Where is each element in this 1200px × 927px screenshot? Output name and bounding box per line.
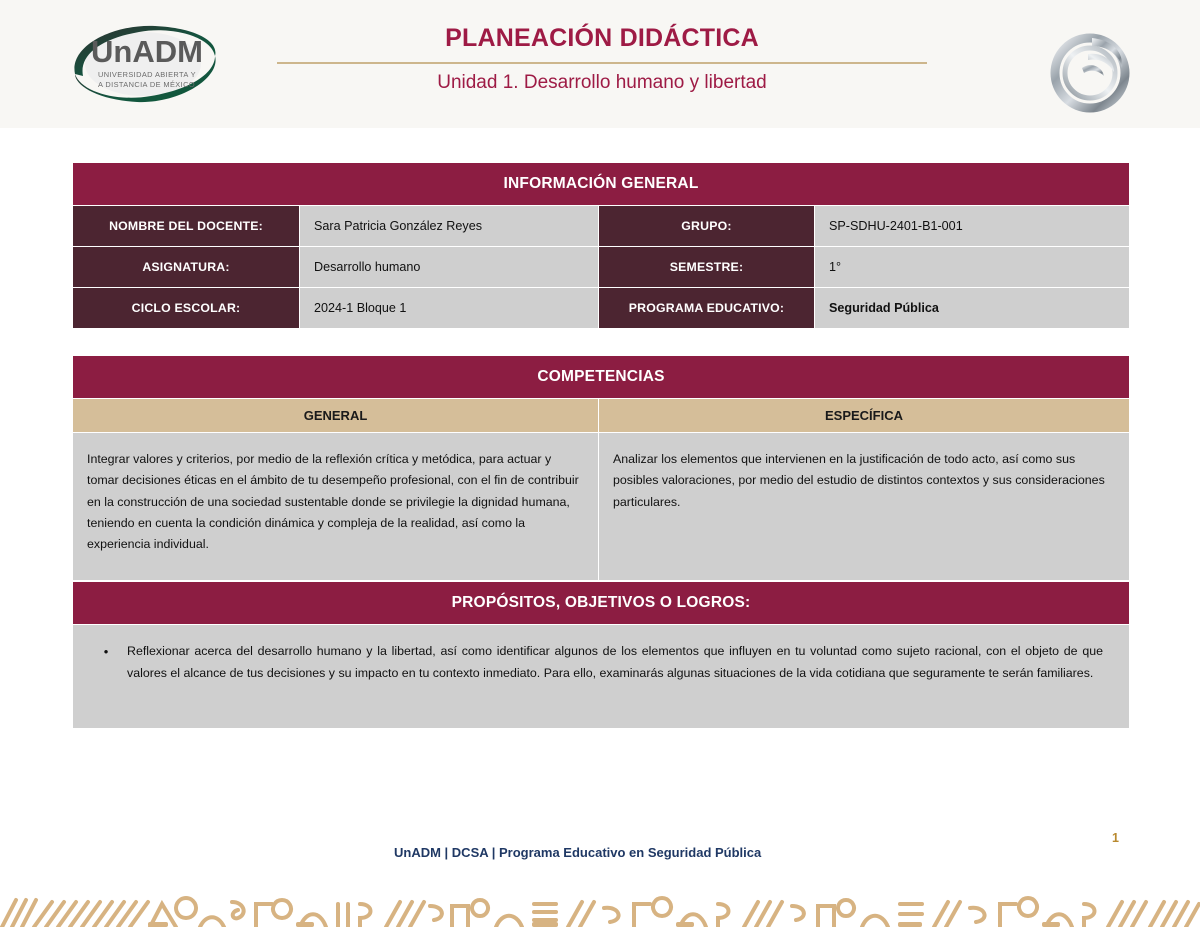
competencias-heading: COMPETENCIAS (73, 356, 1130, 399)
label-semestre: SEMESTRE: (599, 247, 815, 288)
table-row: CICLO ESCOLAR: 2024-1 Bloque 1 PROGRAMA … (73, 288, 1130, 329)
value-nombre-docente: Sara Patricia González Reyes (300, 206, 599, 247)
list-item: • Reflexionar acerca del desarrollo huma… (99, 641, 1103, 684)
table-row: ASIGNATURA: Desarrollo humano SEMESTRE: … (73, 247, 1130, 288)
competencia-general-text: Integrar valores y criterios, por medio … (73, 433, 599, 581)
competencia-especifica-text: Analizar los elementos que intervienen e… (599, 433, 1130, 581)
svg-text:A DISTANCIA DE MÉXICO: A DISTANCIA DE MÉXICO (98, 80, 195, 89)
propositos-table: PROPÓSITOS, OBJETIVOS O LOGROS: • Reflex… (72, 581, 1130, 729)
label-grupo: GRUPO: (599, 206, 815, 247)
page-subtitle: Unidad 1. Desarrollo humano y libertad (262, 70, 942, 97)
value-asignatura: Desarrollo humano (300, 247, 599, 288)
competencias-col-especifica: ESPECÍFICA (599, 399, 1130, 433)
label-asignatura: ASIGNATURA: (73, 247, 300, 288)
page-number: 1 (1112, 831, 1119, 845)
page-header: UnADM UNIVERSIDAD ABIERTA Y A DISTANCIA … (0, 0, 1200, 128)
table-row: COMPETENCIAS (73, 356, 1130, 399)
footer-text: UnADM | DCSA | Programa Educativo en Seg… (394, 845, 761, 860)
value-grupo: SP-SDHU-2401-B1-001 (815, 206, 1130, 247)
table-row: • Reflexionar acerca del desarrollo huma… (73, 625, 1130, 729)
silver-emblem-icon (1030, 18, 1150, 123)
document-page: UnADM UNIVERSIDAD ABIERTA Y A DISTANCIA … (0, 0, 1200, 927)
table-row: INFORMACIÓN GENERAL (73, 163, 1130, 206)
info-general-table: INFORMACIÓN GENERAL NOMBRE DEL DOCENTE: … (72, 162, 1130, 329)
value-programa-educativo: Seguridad Pública (815, 288, 1130, 329)
proposito-text: Reflexionar acerca del desarrollo humano… (127, 641, 1103, 684)
label-programa-educativo: PROGRAMA EDUCATIVO: (599, 288, 815, 329)
propositos-body: • Reflexionar acerca del desarrollo huma… (73, 625, 1130, 729)
page-title: PLANEACIÓN DIDÁCTICA (262, 22, 942, 55)
table-row: Integrar valores y criterios, por medio … (73, 433, 1130, 581)
unadm-logo: UnADM UNIVERSIDAD ABIERTA Y A DISTANCIA … (55, 12, 240, 117)
table-row: PROPÓSITOS, OBJETIVOS O LOGROS: (73, 582, 1130, 625)
competencias-col-general: GENERAL (73, 399, 599, 433)
svg-text:UNIVERSIDAD ABIERTA Y: UNIVERSIDAD ABIERTA Y (98, 70, 196, 79)
label-nombre-docente: NOMBRE DEL DOCENTE: (73, 206, 300, 247)
table-row: GENERAL ESPECÍFICA (73, 399, 1130, 433)
label-ciclo-escolar: CICLO ESCOLAR: (73, 288, 300, 329)
value-semestre: 1° (815, 247, 1130, 288)
competencias-table: COMPETENCIAS GENERAL ESPECÍFICA Integrar… (72, 355, 1130, 581)
decorative-pattern-band (0, 888, 1200, 927)
info-general-heading: INFORMACIÓN GENERAL (73, 163, 1130, 206)
planning-tables: INFORMACIÓN GENERAL NOMBRE DEL DOCENTE: … (72, 162, 1129, 729)
svg-text:UnADM: UnADM (91, 34, 203, 69)
propositos-heading: PROPÓSITOS, OBJETIVOS O LOGROS: (73, 582, 1130, 625)
value-ciclo-escolar: 2024-1 Bloque 1 (300, 288, 599, 329)
table-spacer (72, 329, 1129, 355)
header-titles: PLANEACIÓN DIDÁCTICA Unidad 1. Desarroll… (262, 22, 942, 96)
bullet-icon: • (99, 641, 113, 684)
header-divider (277, 62, 927, 64)
table-row: NOMBRE DEL DOCENTE: Sara Patricia Gonzál… (73, 206, 1130, 247)
